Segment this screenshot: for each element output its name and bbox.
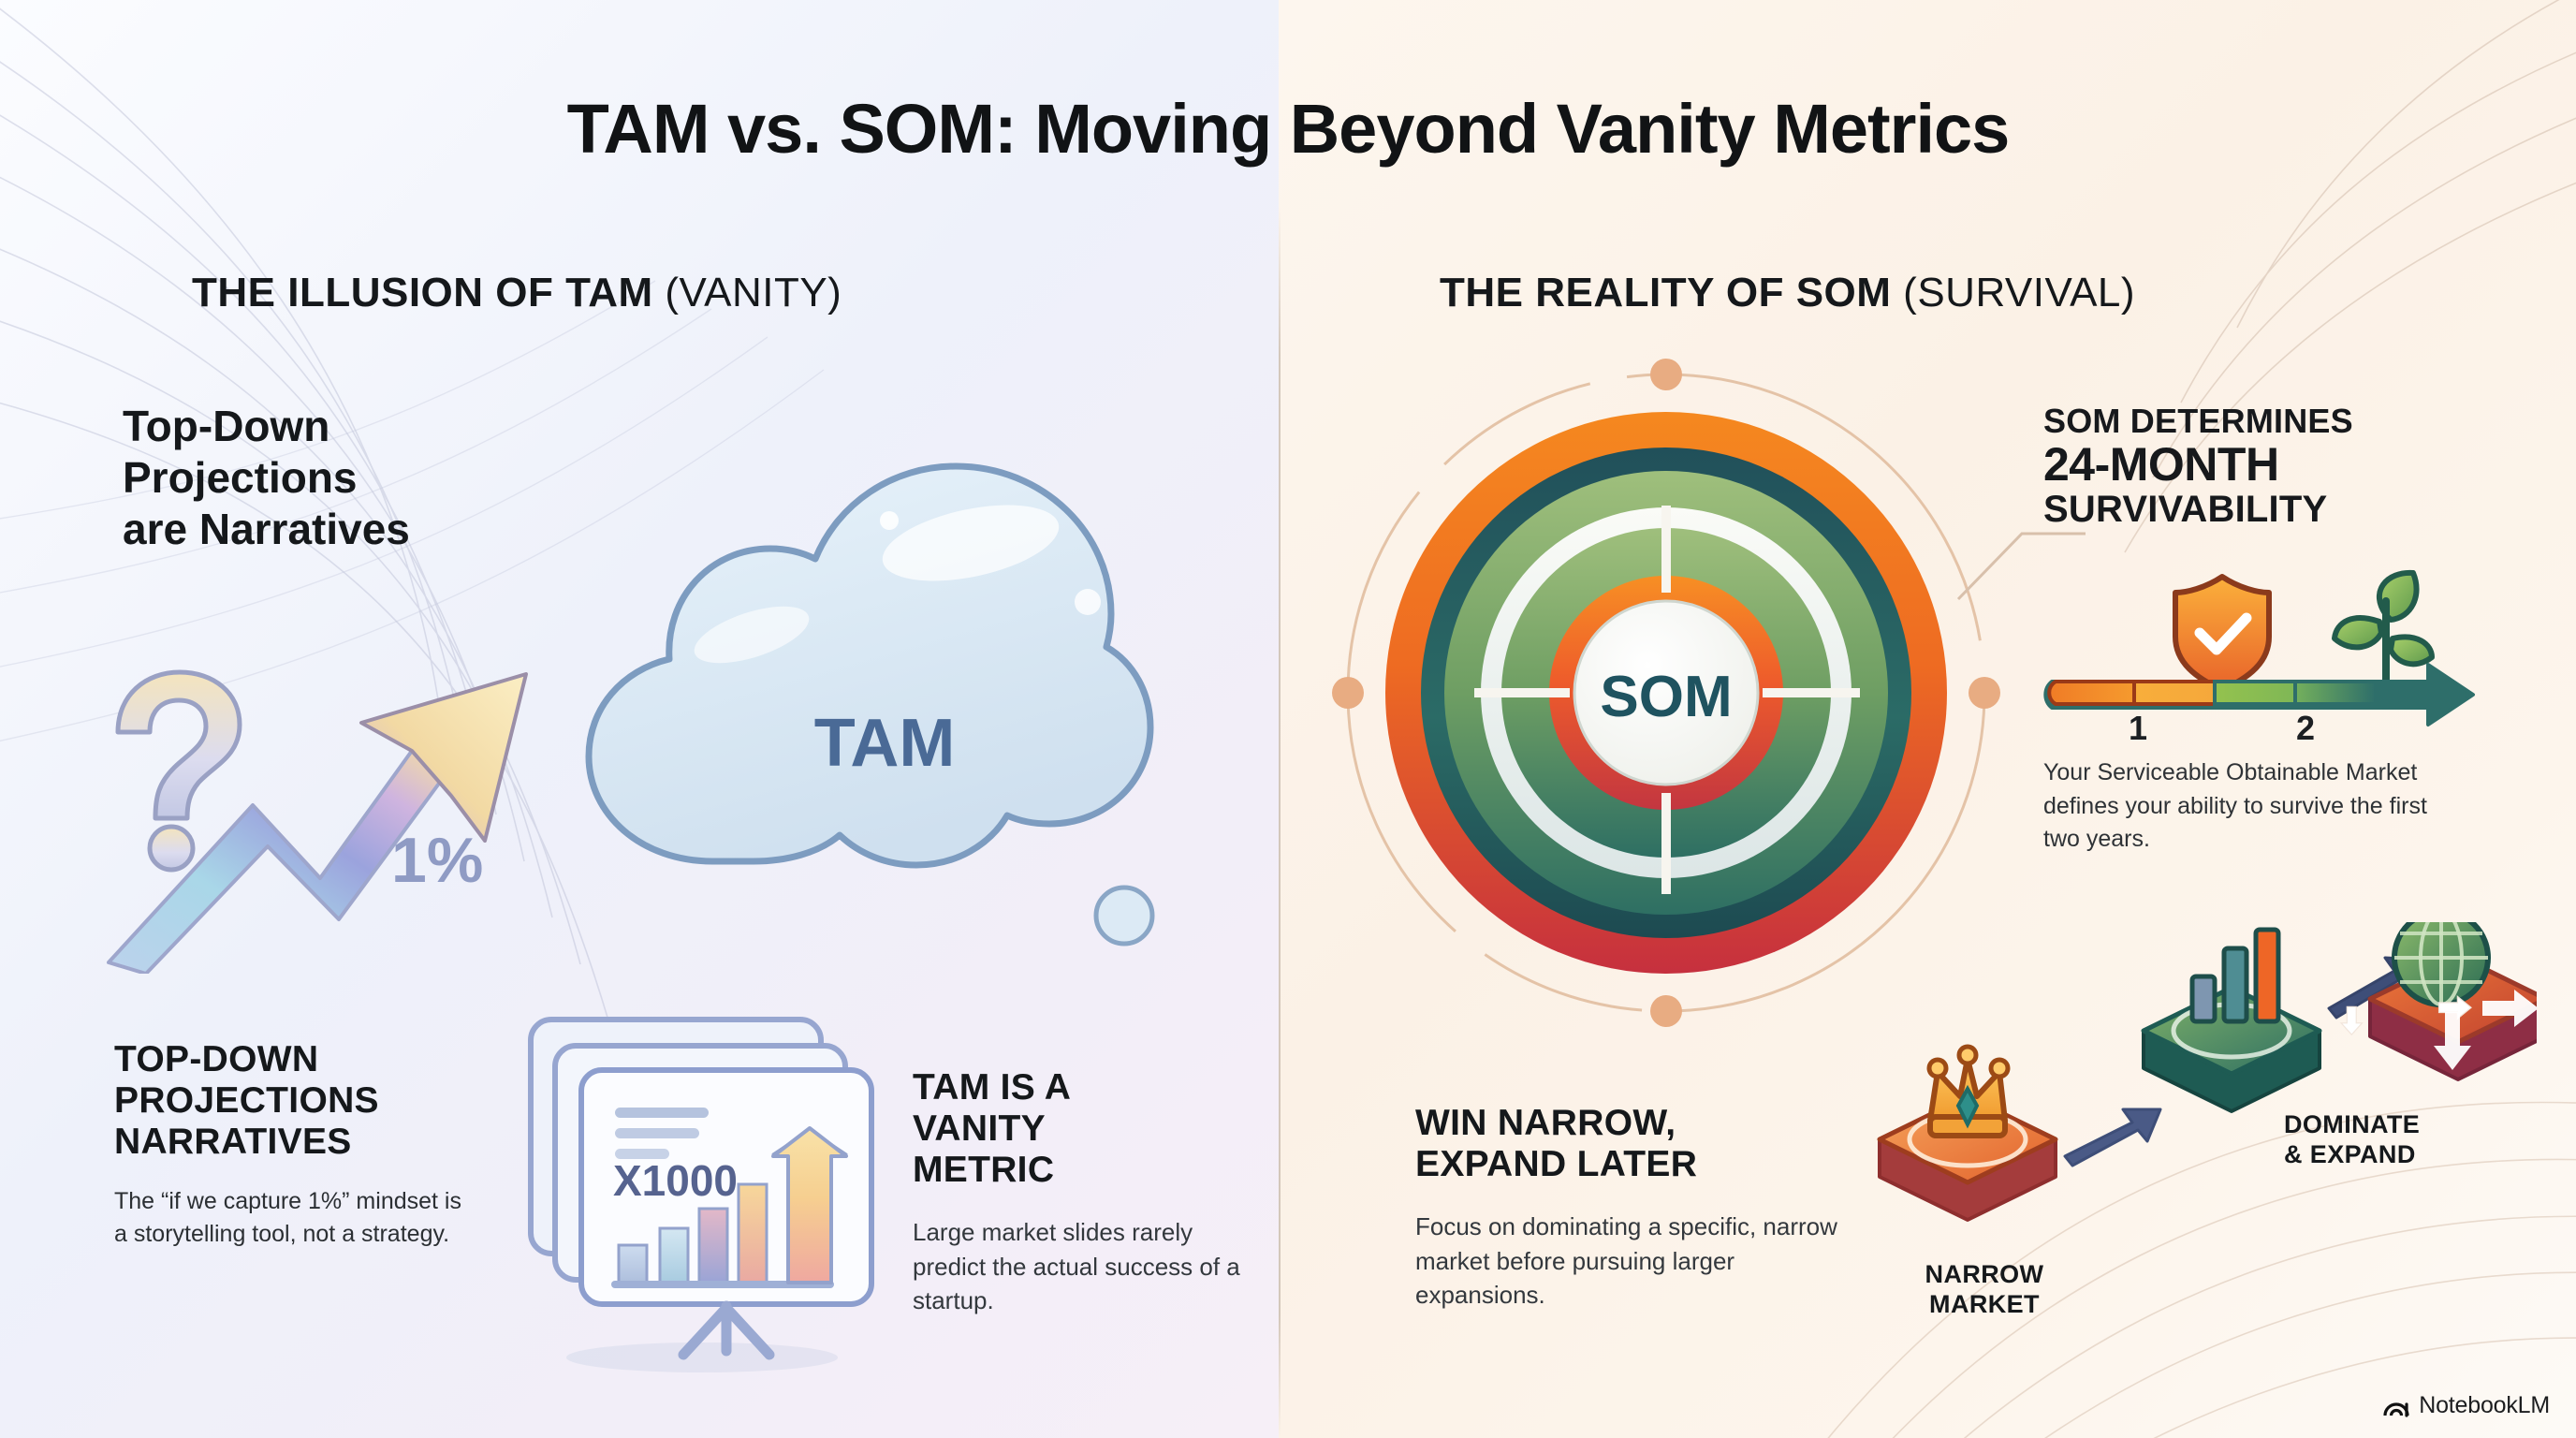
timeline-arrow (2045, 665, 2473, 725)
block-title-line-3: NARRATIVES (114, 1122, 470, 1163)
heading-line-1: Top-Down (123, 401, 525, 452)
survivability-line-3: SURVIVABILITY (2043, 489, 2455, 530)
heading-line-2: Projections (123, 452, 525, 504)
step-dominate-expand (2341, 922, 2537, 1079)
right-column-header: THE REALITY OF SOM (SURVIVAL) (1440, 270, 2135, 316)
block-body: The “if we capture 1%” mindset is a stor… (114, 1185, 470, 1251)
presentation-slides-illustration: X1000 (510, 1016, 903, 1381)
step-3-caption-line-1: DOMINATE (2284, 1109, 2555, 1139)
orbit-dot-left (1332, 677, 1364, 709)
step-1-caption-line-1: NARROW (1881, 1259, 2087, 1289)
right-header-light: (SURVIVAL) (1891, 270, 2135, 315)
step-1-caption-line-2: MARKET (1881, 1289, 2087, 1319)
top-down-narratives-block: TOP-DOWN PROJECTIONS NARRATIVES The “if … (114, 1039, 470, 1251)
survivability-heading: SOM DETERMINES 24-MONTH SURVIVABILITY (2043, 403, 2455, 530)
som-label: SOM (1600, 665, 1732, 729)
tam-label: TAM (814, 706, 956, 781)
vanity-title-line-2: VANITY (913, 1108, 1264, 1150)
survivability-line-2: 24-MONTH (2043, 440, 2455, 490)
infographic-canvas: TAM vs. SOM: Moving Beyond Vanity Metric… (0, 0, 2576, 1438)
left-header-light: (VANITY) (653, 270, 842, 315)
timeline-tick-2: 2 (2296, 709, 2315, 747)
win-narrow-body: Focus on dominating a specific, narrow m… (1415, 1210, 1865, 1312)
survivability-timeline-illustration: 1 2 (2039, 560, 2479, 747)
vanity-body: Large market slides rarely predict the a… (913, 1215, 1264, 1317)
timeline-tick-1: 1 (2129, 709, 2147, 747)
orbit-dot-bottom (1650, 995, 1682, 1027)
win-narrow-block: WIN NARROW, EXPAND LATER Focus on domina… (1415, 1103, 1865, 1312)
cloud-shape (589, 466, 1150, 865)
notebooklm-watermark: NotebookLM (2382, 1391, 2550, 1419)
growth-arrow-illustration (103, 646, 552, 974)
orbit-dot-top (1650, 359, 1682, 390)
column-divider (1279, 206, 1281, 1438)
globe-icon (2394, 922, 2488, 1005)
slides-tripod (683, 1306, 769, 1355)
x1000-label: X1000 (613, 1156, 738, 1205)
bar-chart-icon (2192, 930, 2278, 1021)
block-title-line-2: PROJECTIONS (114, 1080, 470, 1122)
tam-cloud-illustration: TAM (529, 374, 1184, 974)
page-title: TAM vs. SOM: Moving Beyond Vanity Metric… (0, 89, 2576, 169)
step-1-caption: NARROW MARKET (1881, 1259, 2087, 1320)
watermark-label: NotebookLM (2419, 1392, 2550, 1419)
tam-vanity-metric-block: TAM IS A VANITY METRIC Large market slid… (913, 1067, 1264, 1317)
one-percent-label: 1% (391, 824, 483, 897)
step-3-caption: DOMINATE & EXPAND (2284, 1109, 2555, 1170)
slides-shadow (566, 1343, 838, 1372)
arrow-step-1-to-2 (2065, 1109, 2160, 1166)
left-header-strong: THE ILLUSION OF TAM (192, 270, 653, 315)
cloud-highlight-3 (880, 511, 899, 530)
vanity-title-line-3: METRIC (913, 1150, 1264, 1191)
survivability-line-1: SOM DETERMINES (2043, 403, 2455, 440)
top-down-projections-heading: Top-Down Projections are Narratives (123, 401, 525, 556)
left-column-header: THE ILLUSION OF TAM (VANITY) (192, 270, 842, 316)
notebooklm-logo-icon (2382, 1391, 2410, 1419)
crown-icon (1929, 1047, 2008, 1136)
step-narrow-market (1880, 1047, 2056, 1220)
shield-check-icon (2175, 577, 2269, 690)
heading-line-3: are Narratives (123, 504, 525, 555)
block-title-line-1: TOP-DOWN (114, 1039, 470, 1080)
step-bar-chart (2144, 930, 2320, 1111)
sprout-plant-icon (2334, 573, 2432, 691)
survivability-body: Your Serviceable Obtainable Market defin… (2043, 756, 2465, 857)
orbit-dot-right (1969, 677, 2000, 709)
right-header-strong: THE REALITY OF SOM (1440, 270, 1891, 315)
vanity-title-line-1: TAM IS A (913, 1067, 1264, 1108)
step-3-caption-line-2: & EXPAND (2284, 1139, 2555, 1169)
win-narrow-title-line-2: EXPAND LATER (1415, 1144, 1865, 1185)
win-narrow-title-line-1: WIN NARROW, (1415, 1103, 1865, 1144)
cloud-bubble (1096, 888, 1152, 944)
cloud-highlight-4 (1075, 589, 1101, 615)
